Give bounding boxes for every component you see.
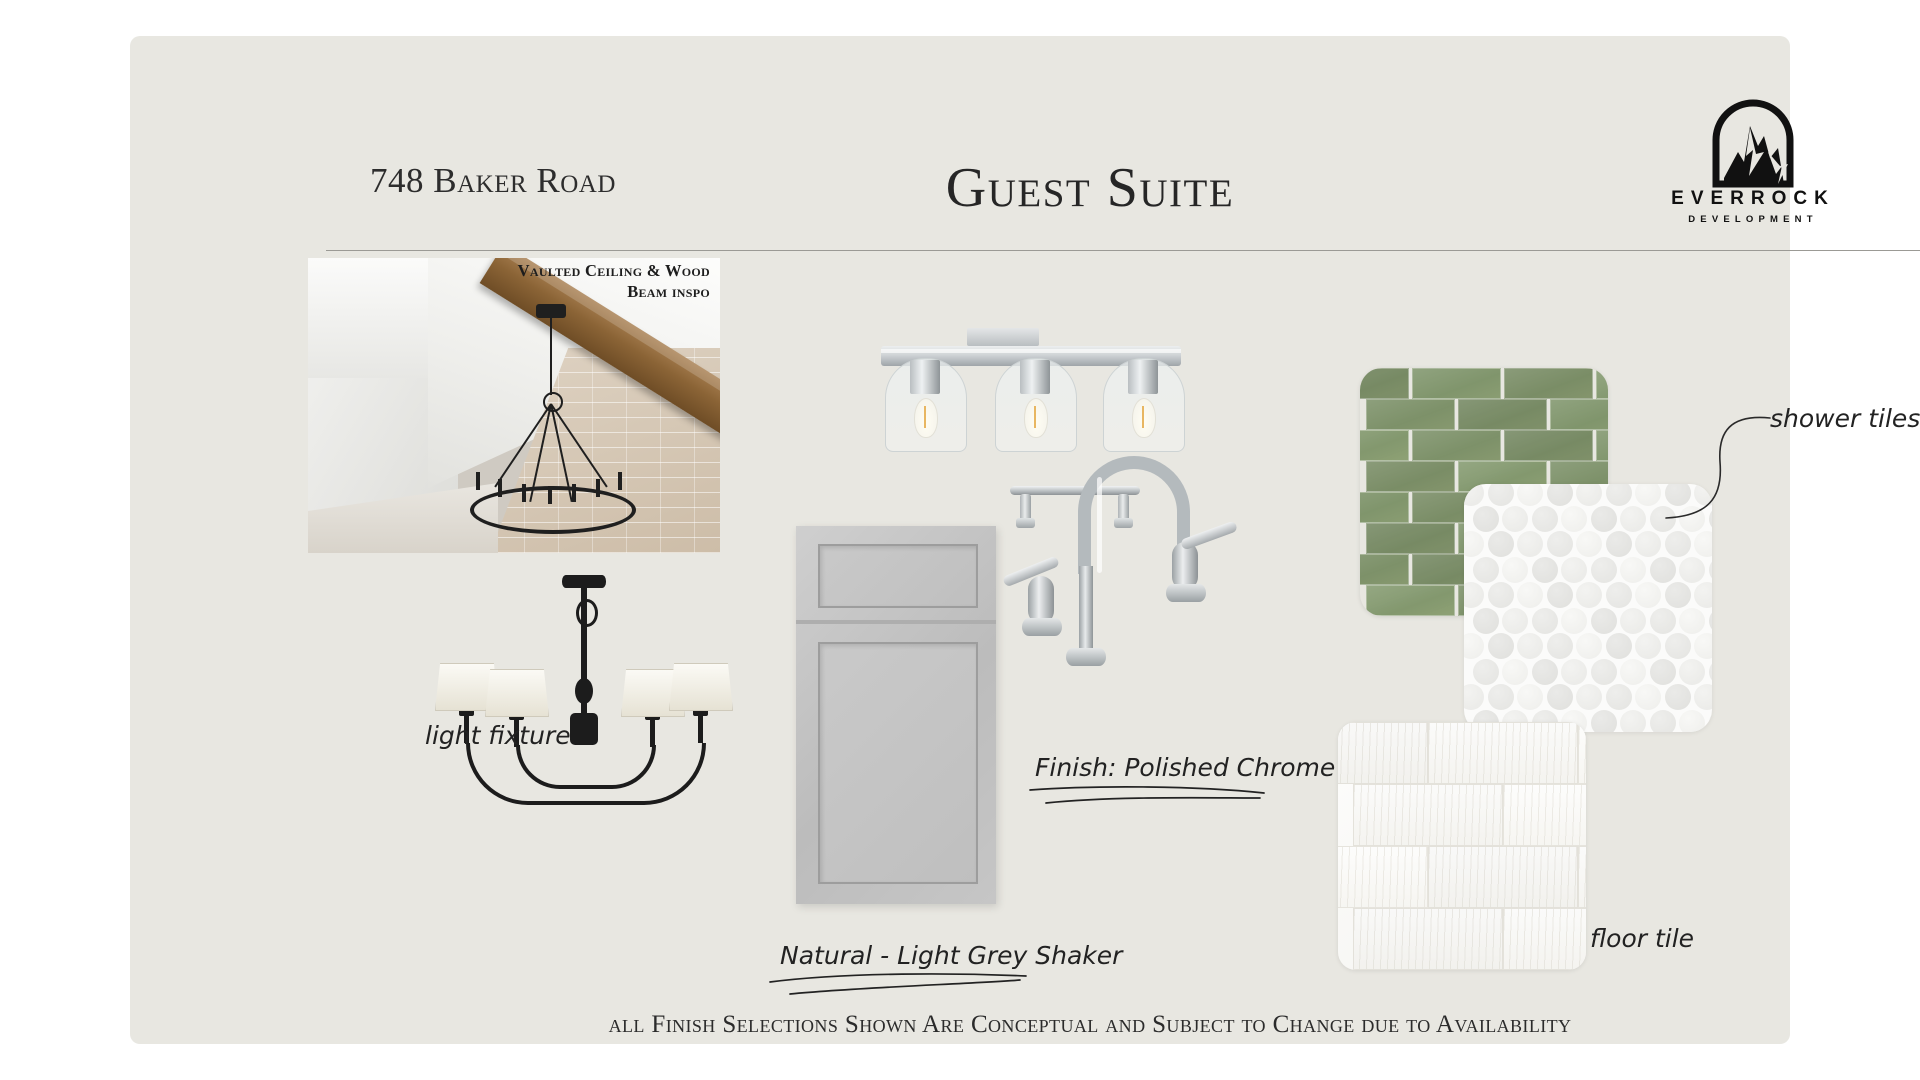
penny-round-tile bbox=[1576, 633, 1602, 659]
penny-round-tile bbox=[1473, 608, 1499, 634]
penny-round-tile bbox=[1464, 531, 1484, 557]
penny-round-tile bbox=[1635, 633, 1661, 659]
penny-round-tile bbox=[1709, 659, 1712, 685]
penny-round-tile bbox=[1561, 608, 1587, 634]
subway-tile-row bbox=[1360, 399, 1608, 430]
penny-round-tile bbox=[1488, 684, 1514, 710]
penny-round-tile bbox=[1473, 659, 1499, 685]
shower-tiles-leader-line bbox=[1600, 366, 1800, 526]
penny-round-tile bbox=[1635, 684, 1661, 710]
penny-round-tile bbox=[1576, 582, 1602, 608]
penny-round-tile bbox=[1464, 484, 1484, 506]
penny-round-tile bbox=[1576, 484, 1602, 506]
penny-round-tile bbox=[1665, 531, 1691, 557]
penny-round-tile bbox=[1606, 684, 1632, 710]
subway-tile-row bbox=[1360, 430, 1608, 461]
penny-round-tile bbox=[1606, 531, 1632, 557]
faucet-column bbox=[1079, 566, 1093, 656]
cabinet-label-underline bbox=[768, 972, 1030, 998]
penny-round-tile bbox=[1650, 608, 1676, 634]
cabinet-reveal bbox=[796, 620, 996, 624]
subway-tile bbox=[1360, 492, 1409, 523]
subway-tile bbox=[1366, 523, 1455, 554]
penny-round-tile bbox=[1650, 710, 1676, 733]
plank-tile bbox=[1503, 908, 1586, 970]
cabinet-label: Natural - Light Grey Shaker bbox=[780, 941, 1122, 970]
penny-round-tile bbox=[1547, 582, 1573, 608]
subway-tile bbox=[1366, 585, 1455, 616]
subway-tile bbox=[1360, 554, 1409, 585]
design-board: 748 Baker Road Guest Suite EVERROCK DEVE… bbox=[130, 36, 1790, 1044]
penny-round-tile bbox=[1694, 633, 1712, 659]
penny-round-tile bbox=[1547, 531, 1573, 557]
shower-tiles-label: shower tiles bbox=[1770, 404, 1920, 433]
penny-round-tile bbox=[1679, 659, 1705, 685]
penny-round-tile bbox=[1650, 557, 1676, 583]
penny-round-tile bbox=[1517, 484, 1543, 506]
chandelier-body bbox=[570, 713, 598, 745]
penny-round-tile bbox=[1464, 633, 1484, 659]
penny-round-tile bbox=[1532, 608, 1558, 634]
plank-tile-row bbox=[1338, 846, 1586, 908]
left-handle bbox=[1028, 576, 1054, 624]
header-divider bbox=[326, 250, 1920, 251]
logo-tagline: DEVELOPMENT bbox=[1658, 214, 1848, 225]
penny-round-tile bbox=[1620, 557, 1646, 583]
penny-round-tile bbox=[1517, 582, 1543, 608]
penny-round-tile bbox=[1665, 582, 1691, 608]
penny-round-tile bbox=[1650, 659, 1676, 685]
subway-tile bbox=[1412, 430, 1501, 461]
penny-round-tile bbox=[1517, 531, 1543, 557]
penny-round-tile bbox=[1694, 582, 1712, 608]
plank-tile bbox=[1428, 846, 1578, 908]
vanity-light-product bbox=[875, 326, 1195, 461]
penny-round-tile bbox=[1502, 608, 1528, 634]
penny-round-tile bbox=[1517, 633, 1543, 659]
penny-round-tile bbox=[1502, 659, 1528, 685]
penny-round-tile bbox=[1488, 484, 1514, 506]
chandelier-shade bbox=[485, 669, 549, 717]
penny-round-tile bbox=[1547, 684, 1573, 710]
penny-round-tile bbox=[1547, 484, 1573, 506]
vanity-backplate bbox=[967, 328, 1039, 346]
penny-round-tile bbox=[1635, 582, 1661, 608]
subway-tile bbox=[1504, 430, 1593, 461]
vanity-bulb bbox=[1024, 398, 1048, 438]
subway-tile bbox=[1366, 399, 1455, 430]
penny-round-tile bbox=[1561, 659, 1587, 685]
disclaimer-text: all Finish Selections Shown Are Conceptu… bbox=[130, 1011, 1920, 1039]
subway-tile bbox=[1360, 368, 1409, 399]
penny-round-tile bbox=[1532, 506, 1558, 532]
vanity-bulb bbox=[914, 398, 938, 438]
chandelier-shade bbox=[669, 663, 733, 711]
plank-tile-row bbox=[1338, 722, 1586, 784]
logo-wordmark: EVERROCK bbox=[1658, 188, 1848, 210]
penny-round-tile bbox=[1464, 684, 1484, 710]
penny-round-tile bbox=[1532, 659, 1558, 685]
penny-round-tile bbox=[1576, 684, 1602, 710]
penny-round-tile bbox=[1464, 582, 1484, 608]
plank-tile-row bbox=[1338, 908, 1586, 970]
vanity-bulb bbox=[1132, 398, 1156, 438]
plank-tile bbox=[1428, 722, 1578, 784]
faucet-base bbox=[1066, 648, 1106, 666]
penny-round-tile bbox=[1591, 659, 1617, 685]
penny-round-tile bbox=[1635, 531, 1661, 557]
page-title: Guest Suite bbox=[130, 156, 1920, 220]
drawer-panel bbox=[818, 544, 978, 608]
penny-round-tile bbox=[1517, 684, 1543, 710]
penny-round-tile bbox=[1694, 531, 1712, 557]
plank-tile-row bbox=[1338, 784, 1586, 846]
penny-round-tile bbox=[1679, 557, 1705, 583]
penny-round-tile bbox=[1606, 582, 1632, 608]
penny-round-tile bbox=[1473, 557, 1499, 583]
penny-round-tile bbox=[1620, 608, 1646, 634]
penny-round-tile bbox=[1488, 582, 1514, 608]
penny-round-tile bbox=[1561, 557, 1587, 583]
plank-tile bbox=[1338, 722, 1428, 784]
plank-tile bbox=[1338, 846, 1428, 908]
penny-round-tile bbox=[1576, 531, 1602, 557]
penny-round-tile bbox=[1665, 684, 1691, 710]
penny-round-tile bbox=[1488, 531, 1514, 557]
penny-round-tile bbox=[1620, 710, 1646, 733]
finish-label: Finish: Polished Chrome bbox=[1035, 753, 1335, 782]
penny-round-tile bbox=[1547, 633, 1573, 659]
subway-tile-row bbox=[1360, 368, 1608, 399]
penny-round-tile bbox=[1591, 608, 1617, 634]
photo-chandelier bbox=[458, 304, 648, 534]
penny-round-tile bbox=[1488, 633, 1514, 659]
penny-round-tile bbox=[1473, 506, 1499, 532]
penny-round-tile bbox=[1502, 557, 1528, 583]
inspiration-photo bbox=[308, 258, 720, 553]
penny-round-tile bbox=[1502, 506, 1528, 532]
floor-tile-swatch bbox=[1338, 722, 1586, 970]
floor-tile-label: floor tile bbox=[1590, 924, 1694, 953]
plank-tile bbox=[1578, 846, 1586, 908]
penny-round-tile bbox=[1679, 710, 1705, 733]
caption-line-2: Beam inspo bbox=[460, 281, 710, 302]
penny-round-tile bbox=[1561, 506, 1587, 532]
penny-round-tile bbox=[1665, 633, 1691, 659]
plank-tile bbox=[1353, 784, 1503, 846]
penny-round-tile bbox=[1709, 710, 1712, 733]
subway-tile bbox=[1412, 368, 1501, 399]
plank-tile bbox=[1503, 784, 1586, 846]
plank-tile bbox=[1353, 908, 1503, 970]
arch-mountain-logo-icon bbox=[1706, 96, 1800, 188]
plumbing-products bbox=[1010, 466, 1330, 736]
subway-tile bbox=[1458, 399, 1547, 430]
subway-tile bbox=[1360, 430, 1409, 461]
subway-tile bbox=[1504, 368, 1593, 399]
company-logo: EVERROCK DEVELOPMENT bbox=[1658, 96, 1848, 216]
penny-round-tile bbox=[1694, 684, 1712, 710]
penny-round-tile bbox=[1532, 557, 1558, 583]
penny-round-tile bbox=[1709, 608, 1712, 634]
finish-label-underline bbox=[1028, 784, 1268, 808]
penny-round-tile bbox=[1591, 710, 1617, 733]
penny-round-tile bbox=[1591, 557, 1617, 583]
penny-round-tile bbox=[1606, 633, 1632, 659]
door-panel bbox=[818, 642, 978, 884]
plank-tile bbox=[1578, 722, 1586, 784]
penny-round-tile bbox=[1679, 608, 1705, 634]
subway-tile bbox=[1366, 461, 1455, 492]
penny-round-tile bbox=[1620, 659, 1646, 685]
cabinet-door-sample bbox=[796, 526, 996, 904]
inspiration-caption: Vaulted Ceiling & Wood Beam inspo bbox=[460, 260, 710, 302]
penny-round-tile bbox=[1709, 557, 1712, 583]
light-fixture-label: light fixture bbox=[425, 721, 571, 750]
caption-line-1: Vaulted Ceiling & Wood bbox=[460, 260, 710, 281]
